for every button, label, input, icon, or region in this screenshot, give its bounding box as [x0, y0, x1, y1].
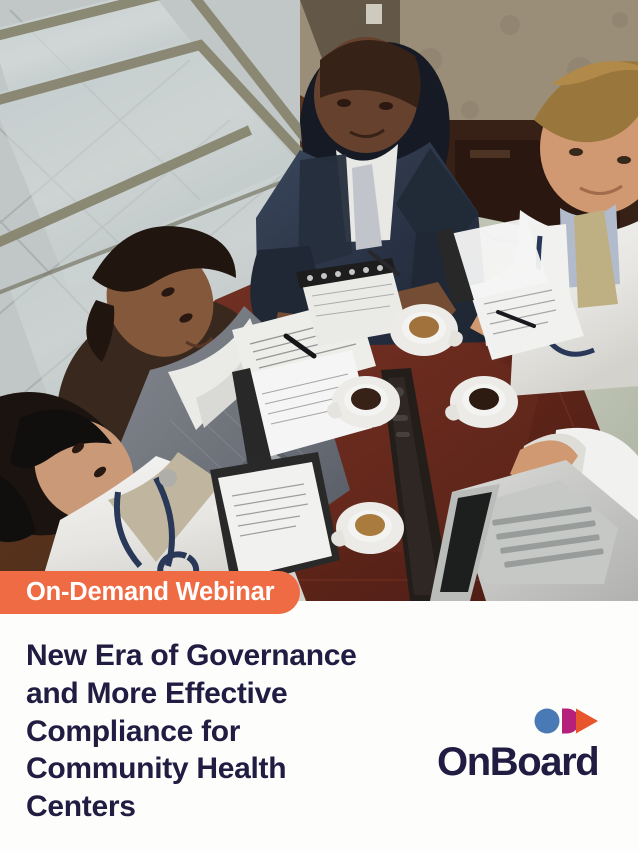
page-title: New Era of Governance and More Effective…: [26, 637, 406, 826]
logo-wordmark: OnBoard: [437, 740, 598, 784]
hero-photo: [0, 0, 638, 601]
onboard-logo: OnBoard: [437, 706, 602, 784]
on-demand-webinar-badge: On-Demand Webinar: [0, 571, 300, 614]
logo-arrow-icon: [576, 709, 598, 734]
logo-mark: [535, 709, 599, 734]
logo-circle-icon: [535, 709, 560, 734]
webinar-promo-card: On-Demand Webinar New Era of Governance …: [0, 0, 638, 851]
badge-label: On-Demand Webinar: [26, 580, 274, 606]
